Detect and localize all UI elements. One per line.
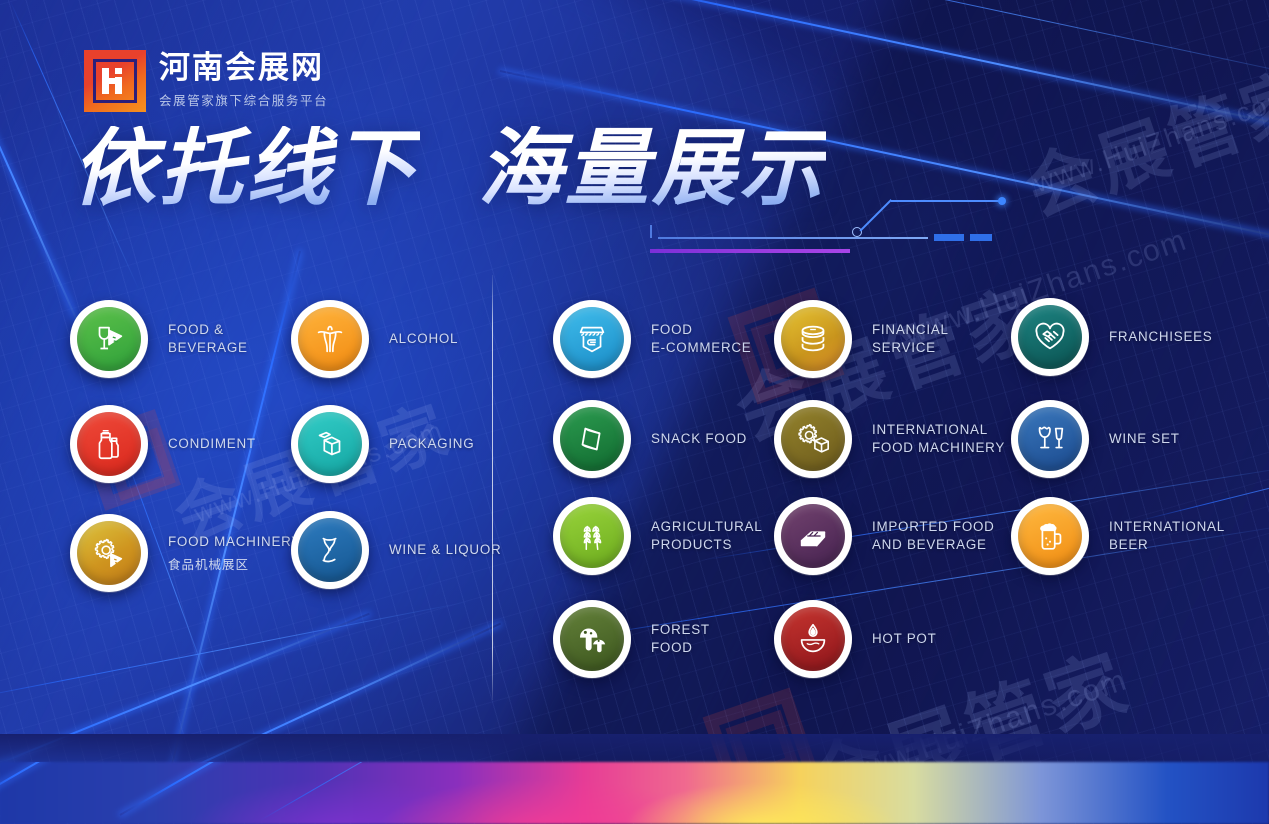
category-label-en: FRANCHISEES xyxy=(1109,328,1213,346)
category-item-food-ecommerce[interactable]: FOOD E-COMMERCE xyxy=(553,300,752,378)
shop-e-icon xyxy=(560,307,624,371)
category-badge xyxy=(70,300,148,378)
category-badge xyxy=(291,300,369,378)
brand-subtitle: 会展管家旗下综合服务平台 xyxy=(159,90,328,109)
category-item-wine-liquor[interactable]: WINE & LIQUOR xyxy=(291,511,501,589)
category-label-block: ALCOHOL xyxy=(389,330,458,348)
category-label-en: WINE SET xyxy=(1109,430,1180,448)
decorative-node xyxy=(852,227,872,247)
category-item-snack-food[interactable]: SNACK FOOD xyxy=(553,400,747,478)
category-badge xyxy=(774,600,852,678)
headline-word-2: 海量展示 xyxy=(478,126,826,210)
category-badge xyxy=(1011,497,1089,575)
category-item-food-beverage[interactable]: FOOD & BEVERAGE xyxy=(70,300,248,378)
brand-text-block: 河南会展网 会展管家旗下综合服务平台 xyxy=(159,50,328,109)
headline-word-1: 依托线下 xyxy=(72,126,420,210)
category-label-block: INTERNATIONAL BEER xyxy=(1109,518,1225,553)
category-badge xyxy=(553,497,631,575)
category-label-block: AGRICULTURAL PRODUCTS xyxy=(651,518,762,553)
category-label-en: FOOD MACHINERY xyxy=(168,533,301,551)
headline: 依托线下 海量展示 xyxy=(72,126,826,210)
category-label-block: INTERNATIONAL FOOD MACHINERY xyxy=(872,421,1005,456)
brand-title: 河南会展网 xyxy=(159,52,328,85)
category-label-en: ALCOHOL xyxy=(389,330,458,348)
snack-bag-icon xyxy=(560,407,624,471)
category-badge xyxy=(291,511,369,589)
diagonal-streak xyxy=(0,762,220,808)
category-label-en: INTERNATIONAL BEER xyxy=(1109,518,1225,553)
category-badge xyxy=(553,300,631,378)
open-box-icon xyxy=(298,412,362,476)
category-label-en: INTERNATIONAL FOOD MACHINERY xyxy=(872,421,1005,456)
decorative-end-dot xyxy=(998,197,1006,205)
category-item-agricultural-products[interactable]: AGRICULTURAL PRODUCTS xyxy=(553,497,762,575)
category-item-franchisees[interactable]: FRANCHISEES xyxy=(1011,298,1213,376)
diagonal-streak xyxy=(260,762,486,821)
column-divider xyxy=(492,275,493,700)
category-badge xyxy=(1011,400,1089,478)
category-label-en: PACKAGING xyxy=(389,435,474,453)
glass-and-food-icon xyxy=(77,307,141,371)
category-item-imported-food-beverage[interactable]: IMPORTED FOOD AND BEVERAGE xyxy=(774,497,995,575)
wine-vessel-icon xyxy=(298,307,362,371)
category-item-forest-food[interactable]: FOREST FOOD xyxy=(553,600,710,678)
category-badge xyxy=(774,400,852,478)
category-label-en: HOT POT xyxy=(872,630,937,648)
category-label-block: FOOD MACHINERY 食品机械展区 xyxy=(168,533,301,573)
category-badge xyxy=(553,400,631,478)
brand-logo[interactable]: 河南会展网 会展管家旗下综合服务平台 xyxy=(84,50,328,112)
diagonal-streak xyxy=(120,762,381,816)
decorative-tech-lines xyxy=(650,205,1015,250)
category-label-cn: 食品机械展区 xyxy=(168,554,301,573)
category-item-alcohol[interactable]: ALCOHOL xyxy=(291,300,458,378)
category-item-food-machinery[interactable]: FOOD MACHINERY 食品机械展区 xyxy=(70,514,301,592)
category-label-block: CONDIMENT xyxy=(168,435,256,453)
category-label-block: HOT POT xyxy=(872,630,937,648)
poster-canvas: 会展管家 www.HuiZhans.com 会展管家 www.HuiZhans.… xyxy=(0,0,1269,824)
category-label-block: FOOD E-COMMERCE xyxy=(651,321,752,356)
category-item-international-beer[interactable]: INTERNATIONAL BEER xyxy=(1011,497,1225,575)
decorative-diagonal-line xyxy=(891,200,999,202)
category-badge xyxy=(774,497,852,575)
category-badge xyxy=(774,300,852,378)
category-label-block: IMPORTED FOOD AND BEVERAGE xyxy=(872,518,995,553)
seasoning-bottles-icon xyxy=(77,412,141,476)
category-label-en: CONDIMENT xyxy=(168,435,256,453)
category-label-block: FOREST FOOD xyxy=(651,621,710,656)
gear-and-box-icon xyxy=(781,407,845,471)
category-label-en: WINE & LIQUOR xyxy=(389,541,501,559)
bottom-streaks xyxy=(0,762,1269,824)
category-label-block: FINANCIAL SERVICE xyxy=(872,321,949,356)
mushrooms-icon xyxy=(560,607,624,671)
beer-mug-icon xyxy=(1018,504,1082,568)
category-label-block: PACKAGING xyxy=(389,435,474,453)
category-label-en: AGRICULTURAL PRODUCTS xyxy=(651,518,762,553)
hhz-square-h-logo-icon xyxy=(84,50,146,112)
category-badge xyxy=(291,405,369,483)
flame-pot-icon xyxy=(781,607,845,671)
category-label-block: SNACK FOOD xyxy=(651,430,747,448)
two-glasses-icon xyxy=(1018,407,1082,471)
category-label-en: IMPORTED FOOD AND BEVERAGE xyxy=(872,518,995,553)
category-label-en: FOOD E-COMMERCE xyxy=(651,321,752,356)
category-badge xyxy=(1011,298,1089,376)
category-badge xyxy=(553,600,631,678)
category-item-financial-service[interactable]: FINANCIAL SERVICE xyxy=(774,300,949,378)
wine-glass-icon xyxy=(298,518,362,582)
category-label-block: FRANCHISEES xyxy=(1109,328,1213,346)
wheat-ears-icon xyxy=(560,504,624,568)
category-label-en: SNACK FOOD xyxy=(651,430,747,448)
category-item-hot-pot[interactable]: HOT POT xyxy=(774,600,937,678)
category-label-en: FOREST FOOD xyxy=(651,621,710,656)
category-item-condiment[interactable]: CONDIMENT xyxy=(70,405,256,483)
heart-handshake-icon xyxy=(1018,305,1082,369)
category-item-packaging[interactable]: PACKAGING xyxy=(291,405,474,483)
gear-and-food-icon xyxy=(77,521,141,585)
category-label-en: FINANCIAL SERVICE xyxy=(872,321,949,356)
category-label-block: WINE SET xyxy=(1109,430,1180,448)
coin-stack-icon xyxy=(781,307,845,371)
category-badge xyxy=(70,514,148,592)
category-badge xyxy=(70,405,148,483)
category-item-international-food-machinery[interactable]: INTERNATIONAL FOOD MACHINERY xyxy=(774,400,1005,478)
chocolate-bar-icon xyxy=(781,504,845,568)
category-label-block: FOOD & BEVERAGE xyxy=(168,321,248,356)
category-item-wine-set[interactable]: WINE SET xyxy=(1011,400,1180,478)
category-label-block: WINE & LIQUOR xyxy=(389,541,501,559)
category-label-en: FOOD & BEVERAGE xyxy=(168,321,248,356)
